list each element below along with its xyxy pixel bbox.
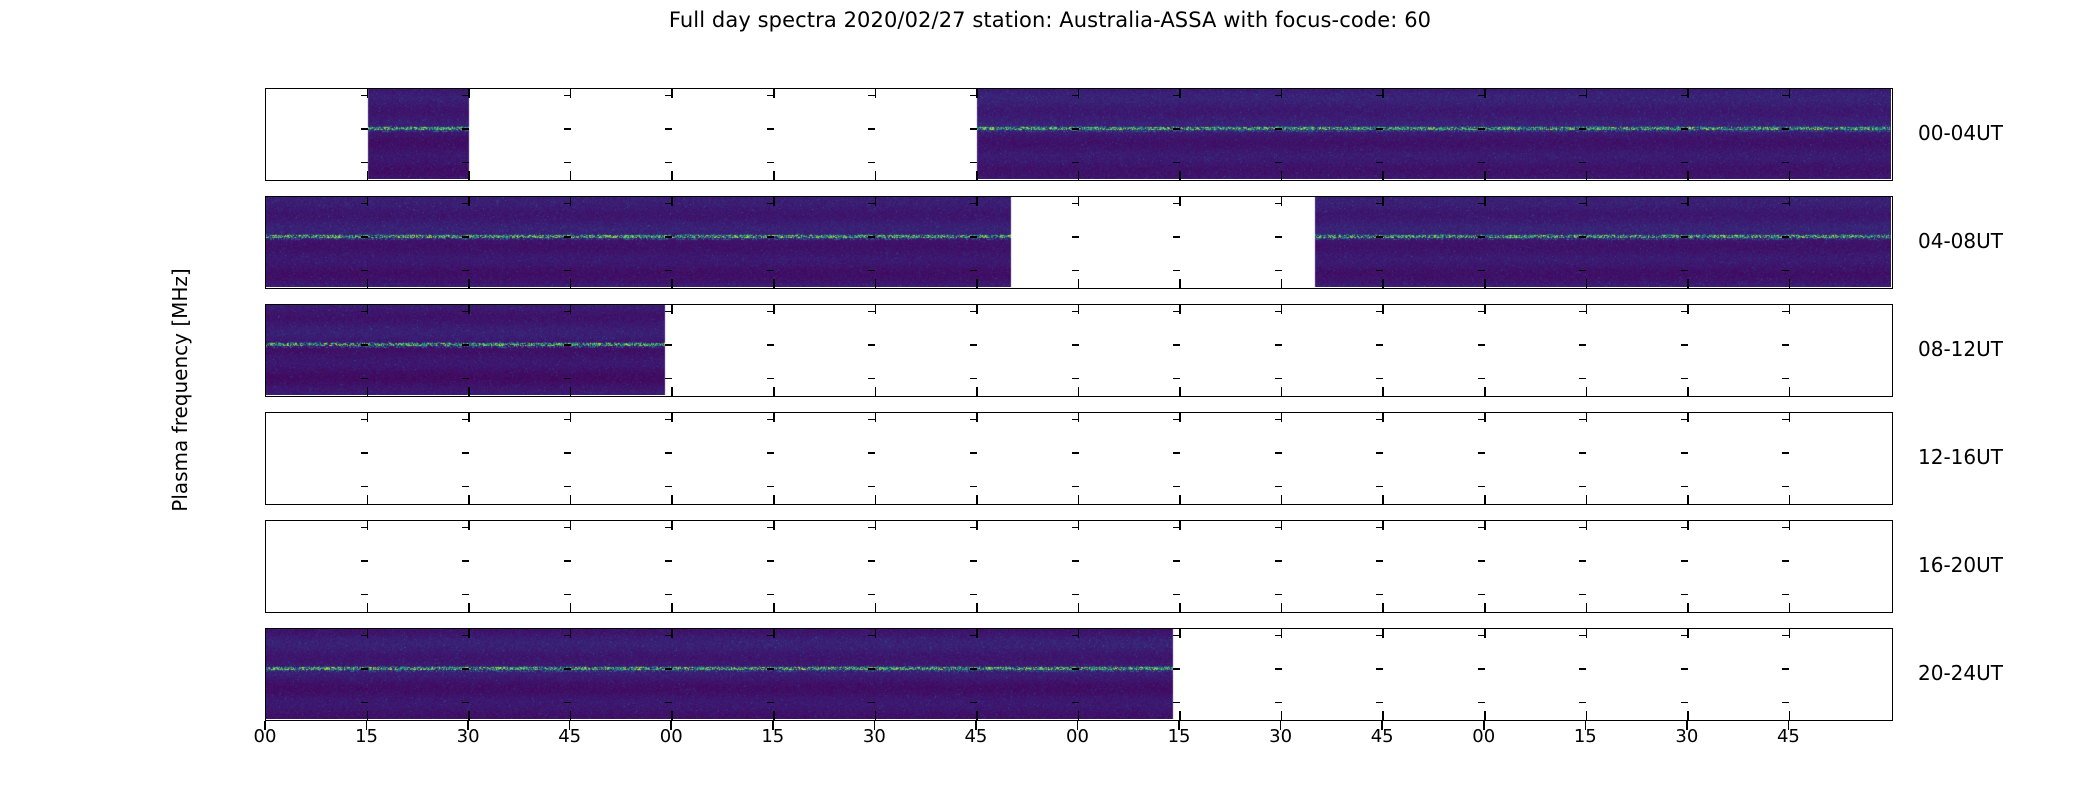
panel-minute-separator bbox=[1687, 711, 1689, 720]
interior-frequency-tick bbox=[462, 486, 469, 488]
interior-frequency-tick bbox=[1072, 95, 1079, 97]
interior-frequency-tick bbox=[1579, 203, 1586, 205]
interior-frequency-tick bbox=[1376, 270, 1383, 272]
y-axis-tick bbox=[265, 236, 266, 238]
interior-frequency-tick bbox=[665, 486, 672, 488]
panel-minute-separator bbox=[875, 89, 877, 98]
interior-frequency-tick bbox=[462, 162, 469, 164]
interior-frequency-tick bbox=[1782, 236, 1789, 238]
y-axis-tick bbox=[265, 419, 266, 421]
interior-frequency-tick bbox=[970, 95, 977, 97]
panel-minute-separator bbox=[1586, 521, 1588, 530]
panel-minute-separator bbox=[1586, 629, 1588, 638]
panel-minute-separator bbox=[367, 279, 369, 288]
panel-minute-separator bbox=[1281, 629, 1283, 638]
panel-minute-separator bbox=[1078, 413, 1080, 422]
interior-frequency-tick bbox=[970, 594, 977, 596]
panel-minute-separator bbox=[468, 629, 470, 638]
panel-minute-separator bbox=[570, 495, 572, 504]
interior-frequency-tick bbox=[1579, 378, 1586, 380]
y-axis-tick bbox=[265, 162, 266, 164]
interior-frequency-tick bbox=[361, 560, 368, 562]
panel-minute-separator bbox=[976, 305, 978, 314]
panel-minute-separator bbox=[773, 197, 775, 206]
interior-frequency-tick bbox=[1478, 560, 1485, 562]
interior-frequency-tick bbox=[868, 95, 875, 97]
interior-frequency-tick bbox=[970, 162, 977, 164]
panel-minute-separator bbox=[773, 305, 775, 314]
interior-frequency-tick bbox=[1579, 527, 1586, 529]
interior-frequency-tick bbox=[665, 702, 672, 704]
interior-frequency-tick bbox=[1376, 203, 1383, 205]
interior-frequency-tick bbox=[868, 419, 875, 421]
panel-minute-separator bbox=[1179, 279, 1181, 288]
y-axis-tick bbox=[265, 270, 266, 272]
interior-frequency-tick bbox=[564, 635, 571, 637]
panel-minute-separator bbox=[1586, 305, 1588, 314]
interior-frequency-tick bbox=[564, 527, 571, 529]
interior-frequency-tick bbox=[868, 560, 875, 562]
y-axis-tick bbox=[265, 311, 266, 313]
y-axis-tick bbox=[265, 128, 266, 130]
interior-frequency-tick bbox=[1072, 270, 1079, 272]
interior-frequency-tick bbox=[1782, 95, 1789, 97]
interior-frequency-tick bbox=[970, 270, 977, 272]
panel-minute-separator bbox=[1179, 413, 1181, 422]
interior-frequency-tick bbox=[1275, 560, 1282, 562]
panel-minute-separator bbox=[1789, 603, 1791, 612]
interior-frequency-tick bbox=[361, 594, 368, 596]
interior-frequency-tick bbox=[1579, 635, 1586, 637]
interior-frequency-tick bbox=[1275, 702, 1282, 704]
panel-minute-separator bbox=[773, 387, 775, 396]
interior-frequency-tick bbox=[564, 668, 571, 670]
x-axis-tick-label: 15 bbox=[761, 726, 784, 747]
spectrogram-panel-16-20ut[interactable]: 750500250 bbox=[265, 520, 1893, 613]
interior-frequency-tick bbox=[868, 344, 875, 346]
panel-minute-separator bbox=[570, 305, 572, 314]
interior-frequency-tick bbox=[767, 702, 774, 704]
interior-frequency-tick bbox=[1478, 128, 1485, 130]
panel-minute-separator bbox=[468, 305, 470, 314]
interior-frequency-tick bbox=[564, 236, 571, 238]
interior-frequency-tick bbox=[1173, 560, 1180, 562]
panel-minute-separator bbox=[1484, 387, 1486, 396]
panel-minute-separator bbox=[976, 495, 978, 504]
interior-frequency-tick bbox=[1681, 270, 1688, 272]
interior-frequency-tick bbox=[1376, 128, 1383, 130]
panel-minute-separator bbox=[671, 171, 673, 180]
panel-minute-separator bbox=[1687, 171, 1689, 180]
panel-minute-separator bbox=[976, 387, 978, 396]
interior-frequency-tick bbox=[462, 128, 469, 130]
panel-minute-separator bbox=[1382, 171, 1384, 180]
interior-frequency-tick bbox=[564, 270, 571, 272]
panel-minute-separator bbox=[976, 89, 978, 98]
interior-frequency-tick bbox=[361, 635, 368, 637]
panel-minute-separator bbox=[1687, 305, 1689, 314]
interior-frequency-tick bbox=[1173, 95, 1180, 97]
panel-minute-separator bbox=[773, 603, 775, 612]
panel-minute-separator bbox=[875, 711, 877, 720]
interior-frequency-tick bbox=[1579, 95, 1586, 97]
panel-minute-separator bbox=[570, 603, 572, 612]
interior-frequency-tick bbox=[1376, 527, 1383, 529]
panel-minute-separator bbox=[875, 197, 877, 206]
interior-frequency-tick bbox=[1579, 270, 1586, 272]
interior-frequency-tick bbox=[868, 702, 875, 704]
panel-minute-separator bbox=[1789, 279, 1791, 288]
interior-frequency-tick bbox=[1376, 702, 1383, 704]
panel-minute-separator bbox=[671, 387, 673, 396]
panel-minute-separator bbox=[1484, 711, 1486, 720]
interior-frequency-tick bbox=[361, 344, 368, 346]
interior-frequency-tick bbox=[1782, 311, 1789, 313]
interior-frequency-tick bbox=[868, 635, 875, 637]
interior-frequency-tick bbox=[665, 128, 672, 130]
interior-frequency-tick bbox=[361, 486, 368, 488]
interior-frequency-tick bbox=[1478, 452, 1485, 454]
panel-minute-separator bbox=[1281, 413, 1283, 422]
interior-frequency-tick bbox=[1173, 162, 1180, 164]
panel-minute-separator bbox=[367, 171, 369, 180]
interior-frequency-tick bbox=[462, 560, 469, 562]
x-axis-tick-label: 45 bbox=[558, 726, 581, 747]
panel-minute-separator bbox=[570, 521, 572, 530]
panel-minute-separator bbox=[1789, 89, 1791, 98]
y-axis-tick bbox=[265, 486, 266, 488]
interior-frequency-tick bbox=[665, 270, 672, 272]
panel-minute-separator bbox=[671, 279, 673, 288]
panel-minute-separator bbox=[976, 629, 978, 638]
interior-frequency-tick bbox=[1579, 419, 1586, 421]
row-label-00-04ut: 00-04UT bbox=[1918, 121, 2003, 145]
interior-frequency-tick bbox=[361, 236, 368, 238]
interior-frequency-tick bbox=[970, 702, 977, 704]
interior-frequency-tick bbox=[1681, 203, 1688, 205]
interior-frequency-tick bbox=[1782, 560, 1789, 562]
interior-frequency-tick bbox=[1782, 668, 1789, 670]
interior-frequency-tick bbox=[1173, 311, 1180, 313]
interior-frequency-tick bbox=[564, 311, 571, 313]
panel-minute-separator bbox=[671, 711, 673, 720]
interior-frequency-tick bbox=[1782, 594, 1789, 596]
interior-frequency-tick bbox=[1072, 162, 1079, 164]
panel-minute-separator bbox=[1484, 629, 1486, 638]
panel-minute-separator bbox=[1789, 521, 1791, 530]
spectrogram-panel-20-24ut[interactable]: 750500250 bbox=[265, 628, 1893, 721]
panel-minute-separator bbox=[671, 495, 673, 504]
panel-minute-separator bbox=[1687, 197, 1689, 206]
interior-frequency-tick bbox=[1072, 203, 1079, 205]
panel-minute-separator bbox=[468, 279, 470, 288]
interior-frequency-tick bbox=[1072, 236, 1079, 238]
panel-minute-separator bbox=[1179, 89, 1181, 98]
row-label-04-08ut: 04-08UT bbox=[1918, 229, 2003, 253]
interior-frequency-tick bbox=[1376, 378, 1383, 380]
interior-frequency-tick bbox=[1275, 527, 1282, 529]
interior-frequency-tick bbox=[767, 344, 774, 346]
panel-minute-separator bbox=[1281, 89, 1283, 98]
x-axis-tick-label: 30 bbox=[1675, 726, 1698, 747]
x-axis-tick-label: 00 bbox=[254, 726, 277, 747]
panel-minute-separator bbox=[1586, 171, 1588, 180]
spectrogram-panel-00-04ut[interactable]: 750500250 bbox=[265, 88, 1893, 181]
interior-frequency-tick bbox=[1681, 236, 1688, 238]
interior-frequency-tick bbox=[1275, 594, 1282, 596]
panel-minute-separator bbox=[1687, 603, 1689, 612]
spectrogram-canvas bbox=[266, 521, 1891, 611]
panel-minute-separator bbox=[875, 413, 877, 422]
panel-minute-separator bbox=[1484, 305, 1486, 314]
interior-frequency-tick bbox=[665, 452, 672, 454]
panel-minute-separator bbox=[671, 629, 673, 638]
panel-minute-separator bbox=[468, 387, 470, 396]
interior-frequency-tick bbox=[665, 419, 672, 421]
interior-frequency-tick bbox=[1478, 668, 1485, 670]
panel-minute-separator bbox=[1078, 603, 1080, 612]
interior-frequency-tick bbox=[1681, 560, 1688, 562]
interior-frequency-tick bbox=[1275, 162, 1282, 164]
interior-frequency-tick bbox=[1579, 236, 1586, 238]
interior-frequency-tick bbox=[1681, 162, 1688, 164]
interior-frequency-tick bbox=[1782, 270, 1789, 272]
interior-frequency-tick bbox=[970, 527, 977, 529]
interior-frequency-tick bbox=[665, 635, 672, 637]
panel-minute-separator bbox=[1586, 89, 1588, 98]
interior-frequency-tick bbox=[1579, 560, 1586, 562]
interior-frequency-tick bbox=[1072, 344, 1079, 346]
panel-minute-separator bbox=[1281, 711, 1283, 720]
interior-frequency-tick bbox=[1072, 378, 1079, 380]
interior-frequency-tick bbox=[970, 378, 977, 380]
panel-minute-separator bbox=[773, 521, 775, 530]
interior-frequency-tick bbox=[767, 162, 774, 164]
interior-frequency-tick bbox=[564, 95, 571, 97]
panel-minute-separator bbox=[1179, 171, 1181, 180]
panel-minute-separator bbox=[367, 197, 369, 206]
interior-frequency-tick bbox=[665, 527, 672, 529]
panel-minute-separator bbox=[976, 711, 978, 720]
interior-frequency-tick bbox=[767, 635, 774, 637]
interior-frequency-tick bbox=[1579, 452, 1586, 454]
panel-minute-separator bbox=[875, 279, 877, 288]
interior-frequency-tick bbox=[665, 344, 672, 346]
panel-minute-separator bbox=[1281, 387, 1283, 396]
panel-minute-separator bbox=[570, 171, 572, 180]
interior-frequency-tick bbox=[1579, 128, 1586, 130]
panel-minute-separator bbox=[976, 603, 978, 612]
interior-frequency-tick bbox=[1275, 128, 1282, 130]
panel-minute-separator bbox=[570, 387, 572, 396]
panel-minute-separator bbox=[1586, 197, 1588, 206]
panel-minute-separator bbox=[773, 89, 775, 98]
panel-minute-separator bbox=[1078, 521, 1080, 530]
interior-frequency-tick bbox=[868, 236, 875, 238]
panel-minute-separator bbox=[1687, 521, 1689, 530]
spectrogram-canvas bbox=[266, 629, 1891, 719]
interior-frequency-tick bbox=[564, 486, 571, 488]
panel-minute-separator bbox=[1484, 495, 1486, 504]
panel-minute-separator bbox=[1179, 305, 1181, 314]
interior-frequency-tick bbox=[1579, 702, 1586, 704]
interior-frequency-tick bbox=[361, 378, 368, 380]
interior-frequency-tick bbox=[1072, 702, 1079, 704]
interior-frequency-tick bbox=[1376, 162, 1383, 164]
interior-frequency-tick bbox=[767, 419, 774, 421]
interior-frequency-tick bbox=[1478, 311, 1485, 313]
interior-frequency-tick bbox=[767, 594, 774, 596]
interior-frequency-tick bbox=[564, 560, 571, 562]
interior-frequency-tick bbox=[970, 452, 977, 454]
interior-frequency-tick bbox=[970, 668, 977, 670]
y-axis-tick bbox=[265, 635, 266, 637]
row-label-08-12ut: 08-12UT bbox=[1918, 337, 2003, 361]
panel-minute-separator bbox=[1484, 279, 1486, 288]
panel-minute-separator bbox=[1586, 387, 1588, 396]
interior-frequency-tick bbox=[1478, 162, 1485, 164]
interior-frequency-tick bbox=[1376, 635, 1383, 637]
interior-frequency-tick bbox=[665, 236, 672, 238]
panel-minute-separator bbox=[1484, 521, 1486, 530]
panel-minute-separator bbox=[1687, 495, 1689, 504]
interior-frequency-tick bbox=[665, 203, 672, 205]
interior-frequency-tick bbox=[1275, 378, 1282, 380]
panel-minute-separator bbox=[1382, 521, 1384, 530]
interior-frequency-tick bbox=[361, 203, 368, 205]
panel-minute-separator bbox=[1586, 603, 1588, 612]
interior-frequency-tick bbox=[868, 311, 875, 313]
interior-frequency-tick bbox=[1275, 452, 1282, 454]
panel-minute-separator bbox=[367, 495, 369, 504]
panel-minute-separator bbox=[1281, 521, 1283, 530]
panel-minute-separator bbox=[468, 521, 470, 530]
interior-frequency-tick bbox=[1782, 635, 1789, 637]
interior-frequency-tick bbox=[564, 203, 571, 205]
interior-frequency-tick bbox=[462, 668, 469, 670]
interior-frequency-tick bbox=[1072, 419, 1079, 421]
panel-minute-separator bbox=[1078, 171, 1080, 180]
panel-minute-separator bbox=[468, 89, 470, 98]
interior-frequency-tick bbox=[1681, 486, 1688, 488]
interior-frequency-tick bbox=[1478, 527, 1485, 529]
interior-frequency-tick bbox=[1782, 527, 1789, 529]
panel-minute-separator bbox=[1687, 387, 1689, 396]
panel-minute-separator bbox=[1687, 629, 1689, 638]
interior-frequency-tick bbox=[1072, 452, 1079, 454]
panel-minute-separator bbox=[1179, 197, 1181, 206]
interior-frequency-tick bbox=[564, 162, 571, 164]
panel-minute-separator bbox=[1179, 711, 1181, 720]
panel-minute-separator bbox=[976, 279, 978, 288]
interior-frequency-tick bbox=[868, 378, 875, 380]
interior-frequency-tick bbox=[1681, 95, 1688, 97]
panel-minute-separator bbox=[671, 89, 673, 98]
interior-frequency-tick bbox=[1072, 560, 1079, 562]
interior-frequency-tick bbox=[970, 560, 977, 562]
panel-minute-separator bbox=[1078, 387, 1080, 396]
interior-frequency-tick bbox=[970, 635, 977, 637]
row-label-16-20ut: 16-20UT bbox=[1918, 553, 2003, 577]
x-axis-tick-label: 15 bbox=[355, 726, 378, 747]
x-axis-tick-label: 45 bbox=[964, 726, 987, 747]
panel-minute-separator bbox=[570, 197, 572, 206]
panel-minute-separator bbox=[1789, 629, 1791, 638]
interior-frequency-tick bbox=[1275, 236, 1282, 238]
spectrogram-panel-08-12ut[interactable]: 750500250 bbox=[265, 304, 1893, 397]
interior-frequency-tick bbox=[1681, 668, 1688, 670]
spectrogram-panel-12-16ut[interactable]: 750500250 bbox=[265, 412, 1893, 505]
interior-frequency-tick bbox=[1072, 128, 1079, 130]
panel-minute-separator bbox=[671, 521, 673, 530]
interior-frequency-tick bbox=[1173, 378, 1180, 380]
panel-minute-separator bbox=[671, 305, 673, 314]
y-axis-tick bbox=[265, 452, 266, 454]
panel-minute-separator bbox=[1382, 197, 1384, 206]
panel-minute-separator bbox=[1281, 305, 1283, 314]
interior-frequency-tick bbox=[361, 270, 368, 272]
interior-frequency-tick bbox=[1173, 344, 1180, 346]
panel-minute-separator bbox=[367, 711, 369, 720]
panel-minute-separator bbox=[773, 171, 775, 180]
interior-frequency-tick bbox=[1478, 344, 1485, 346]
interior-frequency-tick bbox=[665, 560, 672, 562]
spectrogram-panel-04-08ut[interactable]: 750500250 bbox=[265, 196, 1893, 289]
interior-frequency-tick bbox=[1275, 344, 1282, 346]
interior-frequency-tick bbox=[1579, 344, 1586, 346]
interior-frequency-tick bbox=[970, 486, 977, 488]
interior-frequency-tick bbox=[1681, 311, 1688, 313]
panel-minute-separator bbox=[468, 413, 470, 422]
panel-minute-separator bbox=[367, 521, 369, 530]
interior-frequency-tick bbox=[767, 486, 774, 488]
interior-frequency-tick bbox=[1173, 419, 1180, 421]
panel-minute-separator bbox=[875, 603, 877, 612]
x-axis-tick-label: 00 bbox=[1066, 726, 1089, 747]
interior-frequency-tick bbox=[1173, 668, 1180, 670]
interior-frequency-tick bbox=[361, 311, 368, 313]
interior-frequency-tick bbox=[1478, 635, 1485, 637]
interior-frequency-tick bbox=[1376, 560, 1383, 562]
panel-minute-separator bbox=[1382, 89, 1384, 98]
interior-frequency-tick bbox=[462, 702, 469, 704]
interior-frequency-tick bbox=[1376, 344, 1383, 346]
panel-minute-separator bbox=[671, 197, 673, 206]
panel-minute-separator bbox=[367, 413, 369, 422]
interior-frequency-tick bbox=[1579, 668, 1586, 670]
panel-minute-separator bbox=[875, 305, 877, 314]
interior-frequency-tick bbox=[1681, 452, 1688, 454]
panel-minute-separator bbox=[367, 305, 369, 314]
interior-frequency-tick bbox=[1275, 95, 1282, 97]
y-axis-tick bbox=[265, 344, 266, 346]
page-title: Full day spectra 2020/02/27 station: Aus… bbox=[0, 8, 2100, 32]
x-axis-tick-label: 30 bbox=[1269, 726, 1292, 747]
interior-frequency-tick bbox=[1376, 419, 1383, 421]
panel-minute-separator bbox=[468, 171, 470, 180]
panel-minute-separator bbox=[976, 197, 978, 206]
interior-frequency-tick bbox=[665, 668, 672, 670]
interior-frequency-tick bbox=[665, 162, 672, 164]
panel-minute-separator bbox=[875, 171, 877, 180]
interior-frequency-tick bbox=[462, 635, 469, 637]
panel-minute-separator bbox=[1382, 629, 1384, 638]
interior-frequency-tick bbox=[462, 95, 469, 97]
interior-frequency-tick bbox=[1478, 378, 1485, 380]
interior-frequency-tick bbox=[767, 128, 774, 130]
panel-minute-separator bbox=[468, 603, 470, 612]
x-axis-tick-label: 45 bbox=[1777, 726, 1800, 747]
